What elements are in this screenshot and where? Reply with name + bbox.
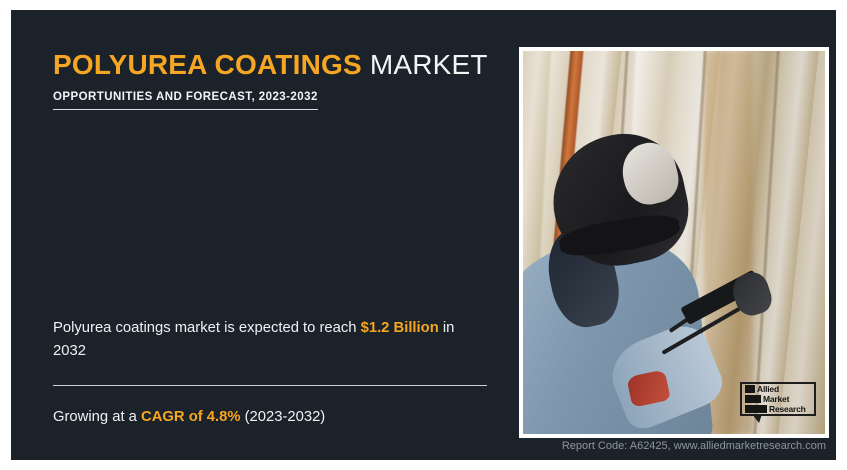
page-title: POLYUREA COATINGS MARKET: [53, 50, 488, 79]
section-divider: [53, 385, 487, 386]
stat-block-market-size: Polyurea coatings market is expected to …: [53, 317, 487, 386]
subtitle: OPPORTUNITIES AND FORECAST, 2023-2032: [53, 91, 318, 110]
stat-block-cagr: Growing at a CAGR of 4.8% (2023-2032): [53, 406, 487, 429]
stat-text-pre: Polyurea coatings market is expected to …: [53, 320, 361, 336]
photo-frame: Allied Market Research: [519, 47, 829, 438]
logo-bar-icon-1: [745, 385, 755, 393]
logo-row-3: Research: [745, 405, 812, 414]
cagr-text-post: (2023-2032): [241, 409, 326, 425]
report-code-footer: Report Code: A62425, www.alliedmarketres…: [562, 440, 826, 452]
stat-line-cagr: Growing at a CAGR of 4.8% (2023-2032): [53, 406, 487, 429]
stat-value-market-size: $1.2 Billion: [361, 320, 439, 336]
logo-bar-icon-3: [745, 405, 767, 413]
stat-value-cagr: CAGR of 4.8%: [141, 409, 240, 425]
logo-speech-bubble-icon: Allied Market Research: [740, 382, 816, 416]
logo-row-2: Market: [745, 395, 812, 404]
logo-rows: Allied Market Research: [742, 383, 814, 416]
logo-word-market: Market: [763, 395, 789, 404]
stat-line-market-size: Polyurea coatings market is expected to …: [53, 317, 487, 363]
logo-bar-icon-2: [745, 395, 761, 403]
allied-market-research-logo: Allied Market Research: [740, 382, 816, 422]
logo-word-research: Research: [769, 405, 806, 414]
title-block: POLYUREA COATINGS MARKET OPPORTUNITIES A…: [53, 50, 488, 110]
market-report-banner: POLYUREA COATINGS MARKET OPPORTUNITIES A…: [11, 10, 836, 460]
logo-row-1: Allied: [745, 385, 812, 394]
title-strong: POLYUREA COATINGS: [53, 49, 362, 80]
banner-left-column: POLYUREA COATINGS MARKET OPPORTUNITIES A…: [53, 10, 493, 460]
title-light: MARKET: [362, 49, 488, 80]
logo-word-allied: Allied: [757, 385, 779, 394]
coating-application-photo: Allied Market Research: [523, 51, 825, 434]
cagr-text-pre: Growing at a: [53, 409, 141, 425]
